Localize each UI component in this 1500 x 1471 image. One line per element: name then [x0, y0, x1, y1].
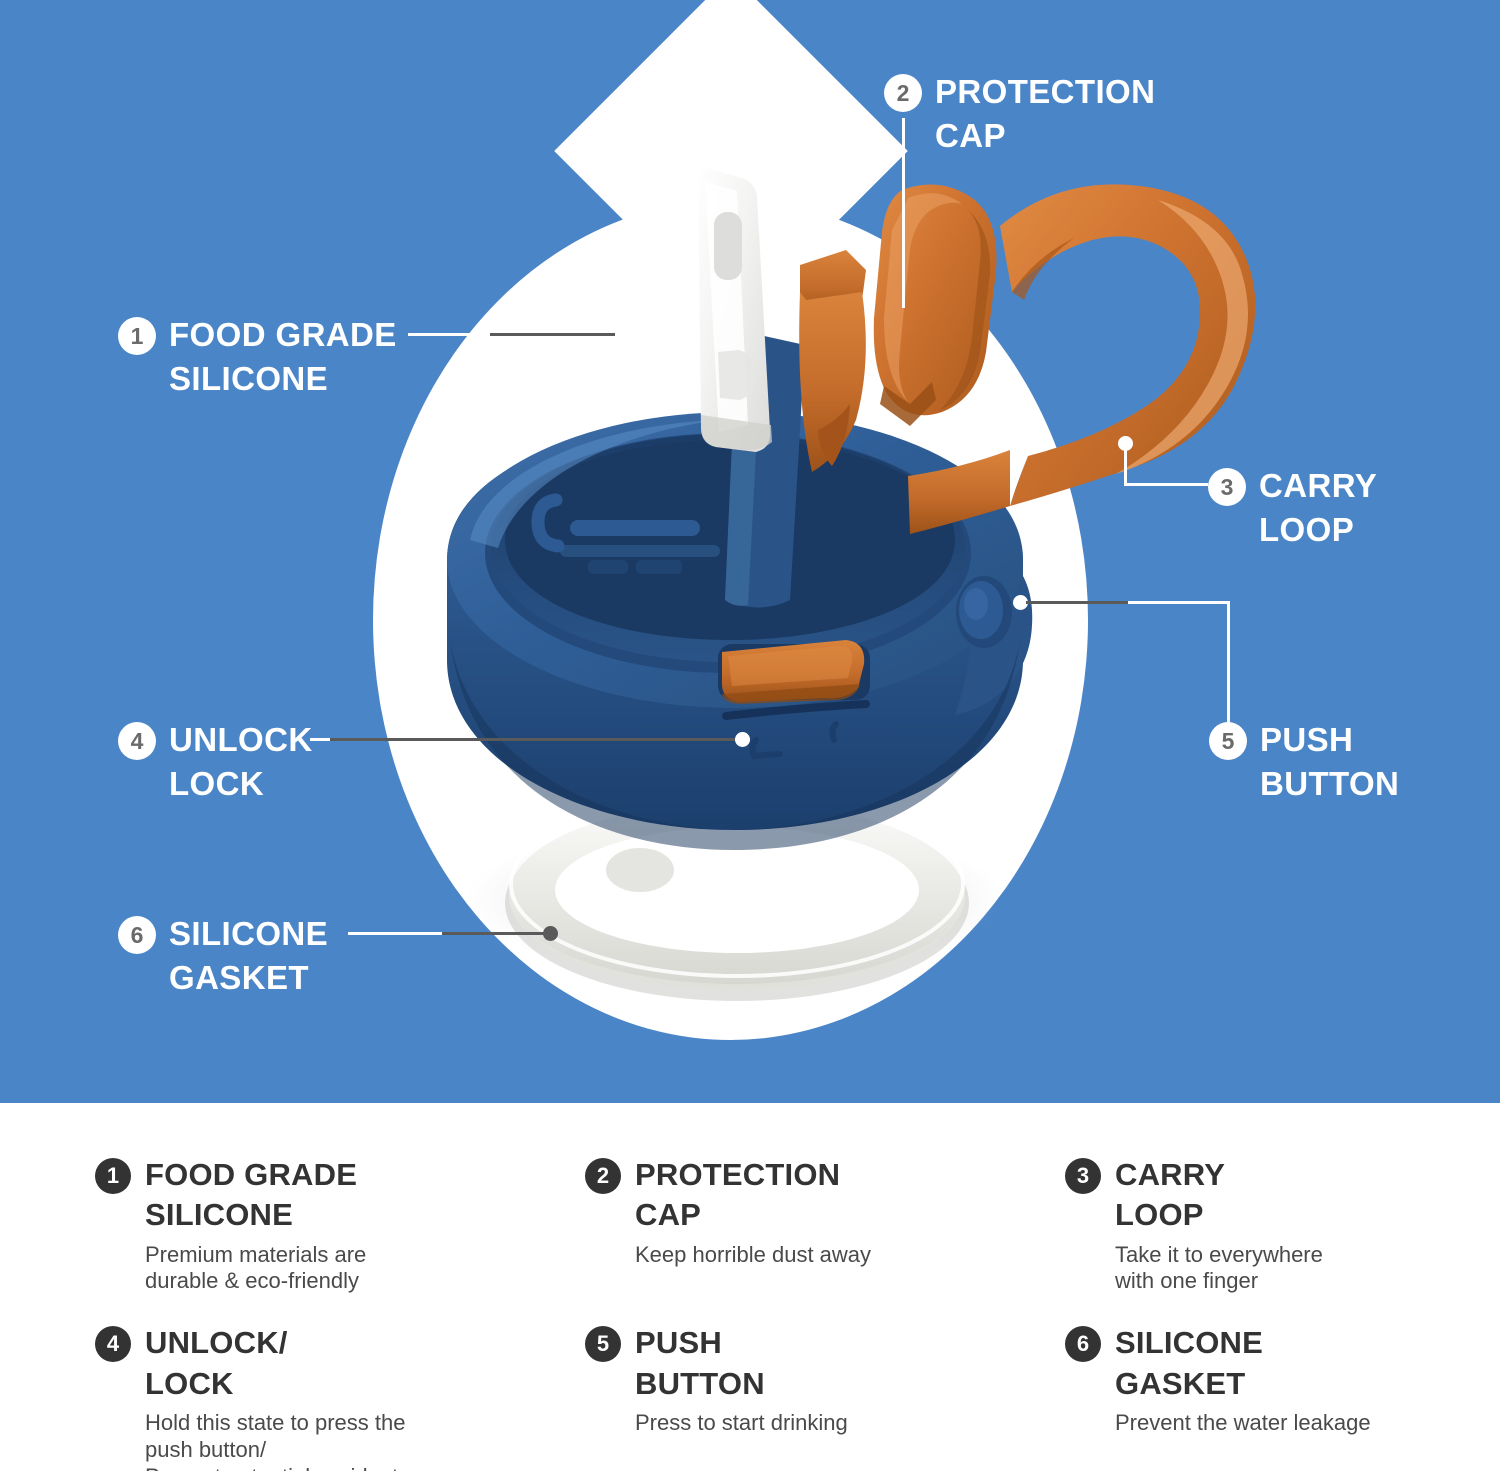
callout-3-line2: LOOP	[1259, 508, 1377, 552]
legend-title-4: UNLOCK/ LOCK	[145, 1323, 409, 1404]
legend-desc-1: Premium materials are durable & eco-frie…	[145, 1242, 366, 1296]
legend-4-desc-line3: Prevent potential accidents	[145, 1464, 409, 1471]
leader-dot-1	[671, 327, 686, 342]
legend-4-desc-line1: Hold this state to press the	[145, 1410, 409, 1437]
legend-1-title-line2: SILICONE	[145, 1195, 366, 1235]
legend-4-title-line1: UNLOCK/	[145, 1323, 409, 1363]
callout-4-line2: LOCK	[169, 762, 313, 806]
legend-title-2: PROTECTION CAP	[635, 1155, 871, 1236]
legend-desc-5: Press to start drinking	[635, 1410, 848, 1437]
infographic-page: 1 FOOD GRADE SILICONE 2 PROTECTION CAP	[0, 0, 1500, 1471]
callout-label-4[interactable]: 4 UNLOCK LOCK	[118, 718, 313, 805]
callout-text-2: PROTECTION CAP	[935, 70, 1155, 157]
legend-3-title-line1: CARRY	[1115, 1155, 1323, 1195]
legend-section: 1 FOOD GRADE SILICONE Premium materials …	[0, 1103, 1500, 1471]
leader-line-6-dark	[442, 932, 550, 935]
legend-desc-4: Hold this state to press the push button…	[145, 1410, 409, 1471]
callout-text-6: SILICONE GASKET	[169, 912, 328, 999]
callout-2-line2: CAP	[935, 114, 1155, 158]
leader-dot-4	[735, 732, 750, 747]
callout-badge-2: 2	[884, 74, 922, 112]
callout-text-1: FOOD GRADE SILICONE	[169, 313, 397, 400]
legend-body-6: SILICONE GASKET Prevent the water leakag…	[1115, 1323, 1371, 1436]
protection-flip-cap	[799, 185, 996, 472]
callout-label-6[interactable]: 6 SILICONE GASKET	[118, 912, 328, 999]
callout-badge-4: 4	[118, 722, 156, 760]
legend-6-desc-line1: Prevent the water leakage	[1115, 1410, 1371, 1437]
callout-badge-6: 6	[118, 916, 156, 954]
legend-item-6[interactable]: 6 SILICONE GASKET Prevent the water leak…	[1065, 1323, 1455, 1471]
legend-badge-4: 4	[95, 1326, 131, 1362]
push-button	[956, 576, 1012, 648]
legend-desc-6: Prevent the water leakage	[1115, 1410, 1371, 1437]
callout-text-5: PUSH BUTTON	[1260, 718, 1399, 805]
legend-4-title-line2: LOCK	[145, 1364, 409, 1404]
legend-item-5[interactable]: 5 PUSH BUTTON Press to start drinking	[585, 1323, 1065, 1471]
legend-2-desc-line1: Keep horrible dust away	[635, 1242, 871, 1269]
leader-line-4-dark	[330, 738, 740, 741]
legend-4-desc-line2: push button/	[145, 1437, 409, 1464]
legend-1-desc-line1: Premium materials are	[145, 1242, 366, 1269]
legend-5-title-line1: PUSH	[635, 1323, 848, 1363]
legend-3-title-line2: LOOP	[1115, 1195, 1323, 1235]
callout-text-3: CARRY LOOP	[1259, 464, 1377, 551]
legend-item-3[interactable]: 3 CARRY LOOP Take it to everywhere with …	[1065, 1155, 1455, 1295]
legend-5-desc-line1: Press to start drinking	[635, 1410, 848, 1437]
legend-6-title-line1: SILICONE	[1115, 1323, 1371, 1363]
legend-badge-1: 1	[95, 1158, 131, 1194]
legend-desc-3: Take it to everywhere with one finger	[1115, 1242, 1323, 1296]
legend-item-4[interactable]: 4 UNLOCK/ LOCK Hold this state to press …	[95, 1323, 585, 1471]
legend-3-desc-line1: Take it to everywhere	[1115, 1242, 1323, 1269]
legend-item-2[interactable]: 2 PROTECTION CAP Keep horrible dust away	[585, 1155, 1065, 1295]
legend-body-5: PUSH BUTTON Press to start drinking	[635, 1323, 848, 1436]
callout-4-line1: UNLOCK	[169, 718, 313, 762]
leader-line-5-horizontal	[1128, 601, 1230, 604]
callout-badge-1: 1	[118, 317, 156, 355]
legend-2-title-line1: PROTECTION	[635, 1155, 871, 1195]
legend-badge-6: 6	[1065, 1326, 1101, 1362]
callout-text-4: UNLOCK LOCK	[169, 718, 313, 805]
callout-2-line1: PROTECTION	[935, 70, 1155, 114]
leader-line-1-dark	[490, 333, 615, 336]
legend-body-4: UNLOCK/ LOCK Hold this state to press th…	[145, 1323, 409, 1471]
hero-section: 1 FOOD GRADE SILICONE 2 PROTECTION CAP	[0, 0, 1500, 1103]
leader-line-3-horizontal	[1124, 483, 1208, 486]
legend-2-title-line2: CAP	[635, 1195, 871, 1235]
leader-dot-6	[543, 926, 558, 941]
legend-1-desc-line2: durable & eco-friendly	[145, 1268, 366, 1295]
legend-3-desc-line2: with one finger	[1115, 1268, 1323, 1295]
callout-5-line2: BUTTON	[1260, 762, 1399, 806]
callout-3-line1: CARRY	[1259, 464, 1377, 508]
callout-label-5[interactable]: 5 PUSH BUTTON	[1209, 718, 1399, 805]
legend-title-1: FOOD GRADE SILICONE	[145, 1155, 366, 1236]
legend-title-3: CARRY LOOP	[1115, 1155, 1323, 1236]
legend-desc-2: Keep horrible dust away	[635, 1242, 871, 1269]
legend-title-5: PUSH BUTTON	[635, 1323, 848, 1404]
legend-title-6: SILICONE GASKET	[1115, 1323, 1371, 1404]
legend-item-1[interactable]: 1 FOOD GRADE SILICONE Premium materials …	[95, 1155, 585, 1295]
legend-5-title-line2: BUTTON	[635, 1364, 848, 1404]
legend-body-3: CARRY LOOP Take it to everywhere with on…	[1115, 1155, 1323, 1295]
callout-badge-5: 5	[1209, 722, 1247, 760]
silicone-spout	[696, 168, 772, 452]
legend-body-2: PROTECTION CAP Keep horrible dust away	[635, 1155, 871, 1268]
callout-1-line2: SILICONE	[169, 357, 397, 401]
callout-badge-3: 3	[1208, 468, 1246, 506]
callout-label-2[interactable]: 2 PROTECTION CAP	[884, 70, 1155, 157]
leader-line-3-vertical	[1124, 443, 1127, 485]
callout-label-1[interactable]: 1 FOOD GRADE SILICONE	[118, 313, 397, 400]
callout-5-line1: PUSH	[1260, 718, 1399, 762]
legend-grid: 1 FOOD GRADE SILICONE Premium materials …	[95, 1155, 1455, 1471]
callout-6-line1: SILICONE	[169, 912, 328, 956]
legend-body-1: FOOD GRADE SILICONE Premium materials ar…	[145, 1155, 366, 1295]
legend-badge-2: 2	[585, 1158, 621, 1194]
callout-label-3[interactable]: 3 CARRY LOOP	[1208, 464, 1377, 551]
legend-badge-5: 5	[585, 1326, 621, 1362]
leader-line-5-vertical	[1227, 601, 1230, 723]
legend-badge-3: 3	[1065, 1158, 1101, 1194]
callout-6-line2: GASKET	[169, 956, 328, 1000]
callout-1-line1: FOOD GRADE	[169, 313, 397, 357]
legend-6-title-line2: GASKET	[1115, 1364, 1371, 1404]
legend-1-title-line1: FOOD GRADE	[145, 1155, 366, 1195]
